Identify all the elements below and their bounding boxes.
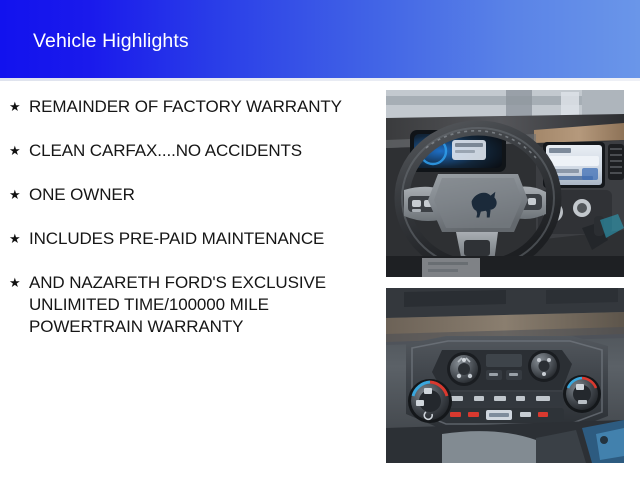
page-title: Vehicle Highlights [33,29,189,53]
star-icon: ★ [9,140,21,162]
star-icon: ★ [9,272,21,294]
list-item: ★ CLEAN CARFAX....NO ACCIDENTS [0,140,375,162]
highlight-text: ONE OWNER [29,185,135,204]
list-item: ★ AND NAZARETH FORD'S EXCLUSIVE UNLIMITE… [0,272,375,338]
highlight-text: AND NAZARETH FORD'S EXCLUSIVE UNLIMITED … [29,273,326,336]
list-item: ★ REMAINDER OF FACTORY WARRANTY [0,96,375,118]
steering-wheel-illustration [386,90,624,277]
climate-control-panel-illustration [386,288,624,463]
vehicle-photo-steering-wheel[interactable] [386,90,624,277]
highlight-text: CLEAN CARFAX....NO ACCIDENTS [29,141,302,160]
highlight-text: INCLUDES PRE-PAID MAINTENANCE [29,229,324,248]
list-item: ★ INCLUDES PRE-PAID MAINTENANCE [0,228,375,250]
vehicle-highlights-list: ★ REMAINDER OF FACTORY WARRANTY ★ CLEAN … [0,96,375,360]
header-divider [0,78,640,81]
page-header: Vehicle Highlights [0,0,640,78]
vehicle-photo-climate-controls[interactable] [386,288,624,463]
star-icon: ★ [9,96,21,118]
highlight-text: REMAINDER OF FACTORY WARRANTY [29,97,342,116]
list-item: ★ ONE OWNER [0,184,375,206]
star-icon: ★ [9,184,21,206]
star-icon: ★ [9,228,21,250]
